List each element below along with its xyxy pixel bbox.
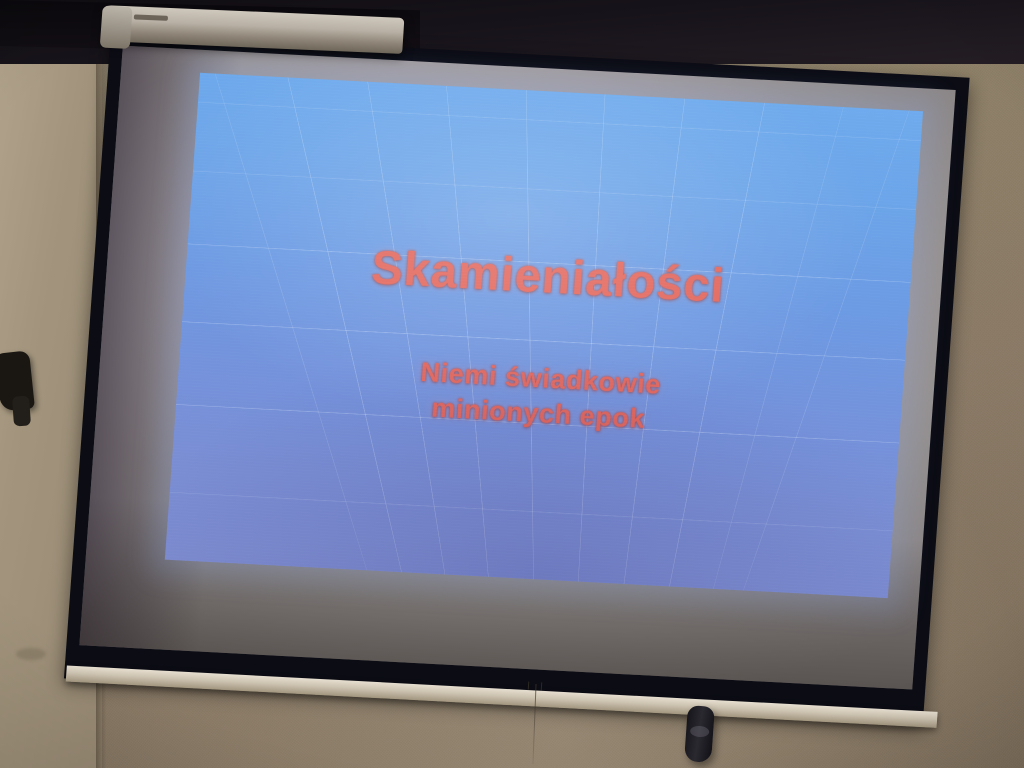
projector-scanlines (165, 73, 923, 598)
projector-hotspot (165, 73, 923, 598)
projected-slide: Skamieniałości Niemi świadkowie minionyc… (165, 73, 923, 598)
globe-latitude-line (165, 486, 923, 536)
globe-latitude-line (165, 165, 923, 215)
slide-subtitle: Niemi świadkowie minionych epok (175, 342, 903, 451)
globe-meridian-line (575, 73, 609, 598)
screen-tie-down-hook-icon[interactable] (684, 705, 715, 763)
projector-room-photo: Skamieniałości Niemi świadkowie minionyc… (0, 0, 1024, 768)
roller-brand-label (134, 14, 168, 20)
globe-meridian-line (525, 73, 535, 598)
roller-end-cap (100, 5, 133, 48)
cord-clip (528, 682, 543, 691)
globe-meridian-line (276, 73, 410, 598)
globe-meridian-line (700, 73, 857, 598)
slide-title: Skamieniałości (185, 232, 912, 320)
wall-bracket-nub (12, 395, 31, 426)
projector-screen: Skamieniałości Niemi świadkowie minionyc… (63, 16, 971, 740)
globe-meridian-line (201, 73, 375, 593)
wall-smudge (16, 648, 46, 660)
